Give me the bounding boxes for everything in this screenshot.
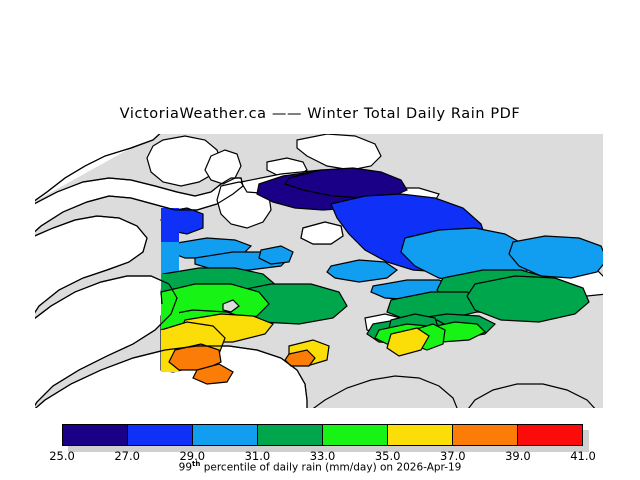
colorbar-segment-0[interactable]: [63, 425, 128, 445]
map-panel[interactable]: [35, 134, 603, 408]
colorbar-segment-6[interactable]: [453, 425, 518, 445]
weather-map-figure: VictoriaWeather.ca —— Winter Total Daily…: [0, 0, 640, 480]
colorbar-segment-1[interactable]: [128, 425, 193, 445]
caption-prefix: 99: [179, 462, 192, 474]
map-canvas[interactable]: [35, 134, 603, 408]
colorbar-segment-3[interactable]: [258, 425, 323, 445]
colorbar-segment-2[interactable]: [193, 425, 258, 445]
colorbar-segment-4[interactable]: [323, 425, 388, 445]
colorbar-segment-7[interactable]: [518, 425, 582, 445]
colorbar-caption: 99th percentile of daily rain (mm/day) o…: [0, 460, 640, 474]
colorbar[interactable]: [62, 424, 583, 446]
colorbar-segment-5[interactable]: [388, 425, 453, 445]
page-title: VictoriaWeather.ca —— Winter Total Daily…: [0, 106, 640, 122]
caption-suffix: percentile of daily rain (mm/day) on 202…: [200, 462, 461, 474]
colorbar-segments[interactable]: [62, 424, 583, 446]
